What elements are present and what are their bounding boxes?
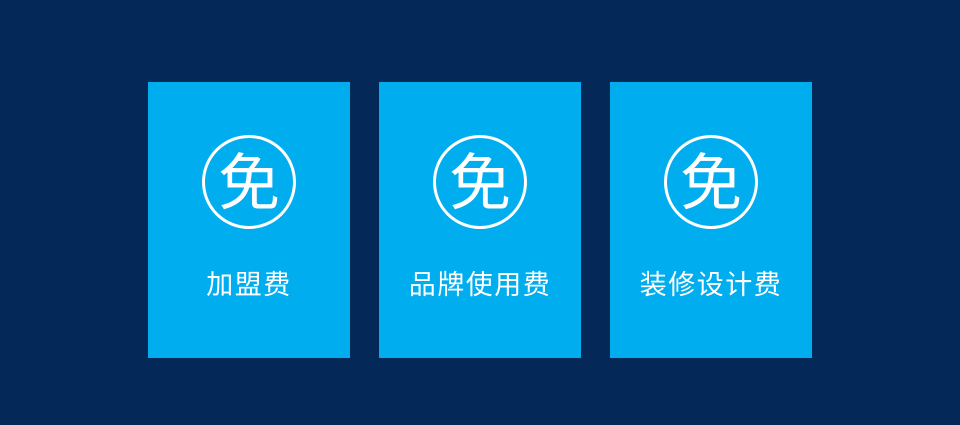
benefit-cards-row: 免 加盟费 免 品牌使用费 免 装修设计费 <box>148 82 812 358</box>
svg-text:免: 免 <box>680 147 742 220</box>
benefit-card-brand-usage-fee[interactable]: 免 品牌使用费 <box>379 82 581 358</box>
benefit-card-decoration-design-fee[interactable]: 免 装修设计费 <box>610 82 812 358</box>
free-circle-icon: 免 <box>201 134 297 230</box>
benefit-card-franchise-fee[interactable]: 免 加盟费 <box>148 82 350 358</box>
benefits-banner: 免 加盟费 免 品牌使用费 免 装修设计费 <box>0 0 960 425</box>
benefit-card-label: 加盟费 <box>148 268 350 302</box>
free-circle-icon: 免 <box>432 134 528 230</box>
svg-text:免: 免 <box>218 147 280 220</box>
benefit-card-label: 品牌使用费 <box>379 268 581 302</box>
benefit-card-label: 装修设计费 <box>610 268 812 302</box>
svg-text:免: 免 <box>449 147 511 220</box>
free-circle-icon: 免 <box>663 134 759 230</box>
